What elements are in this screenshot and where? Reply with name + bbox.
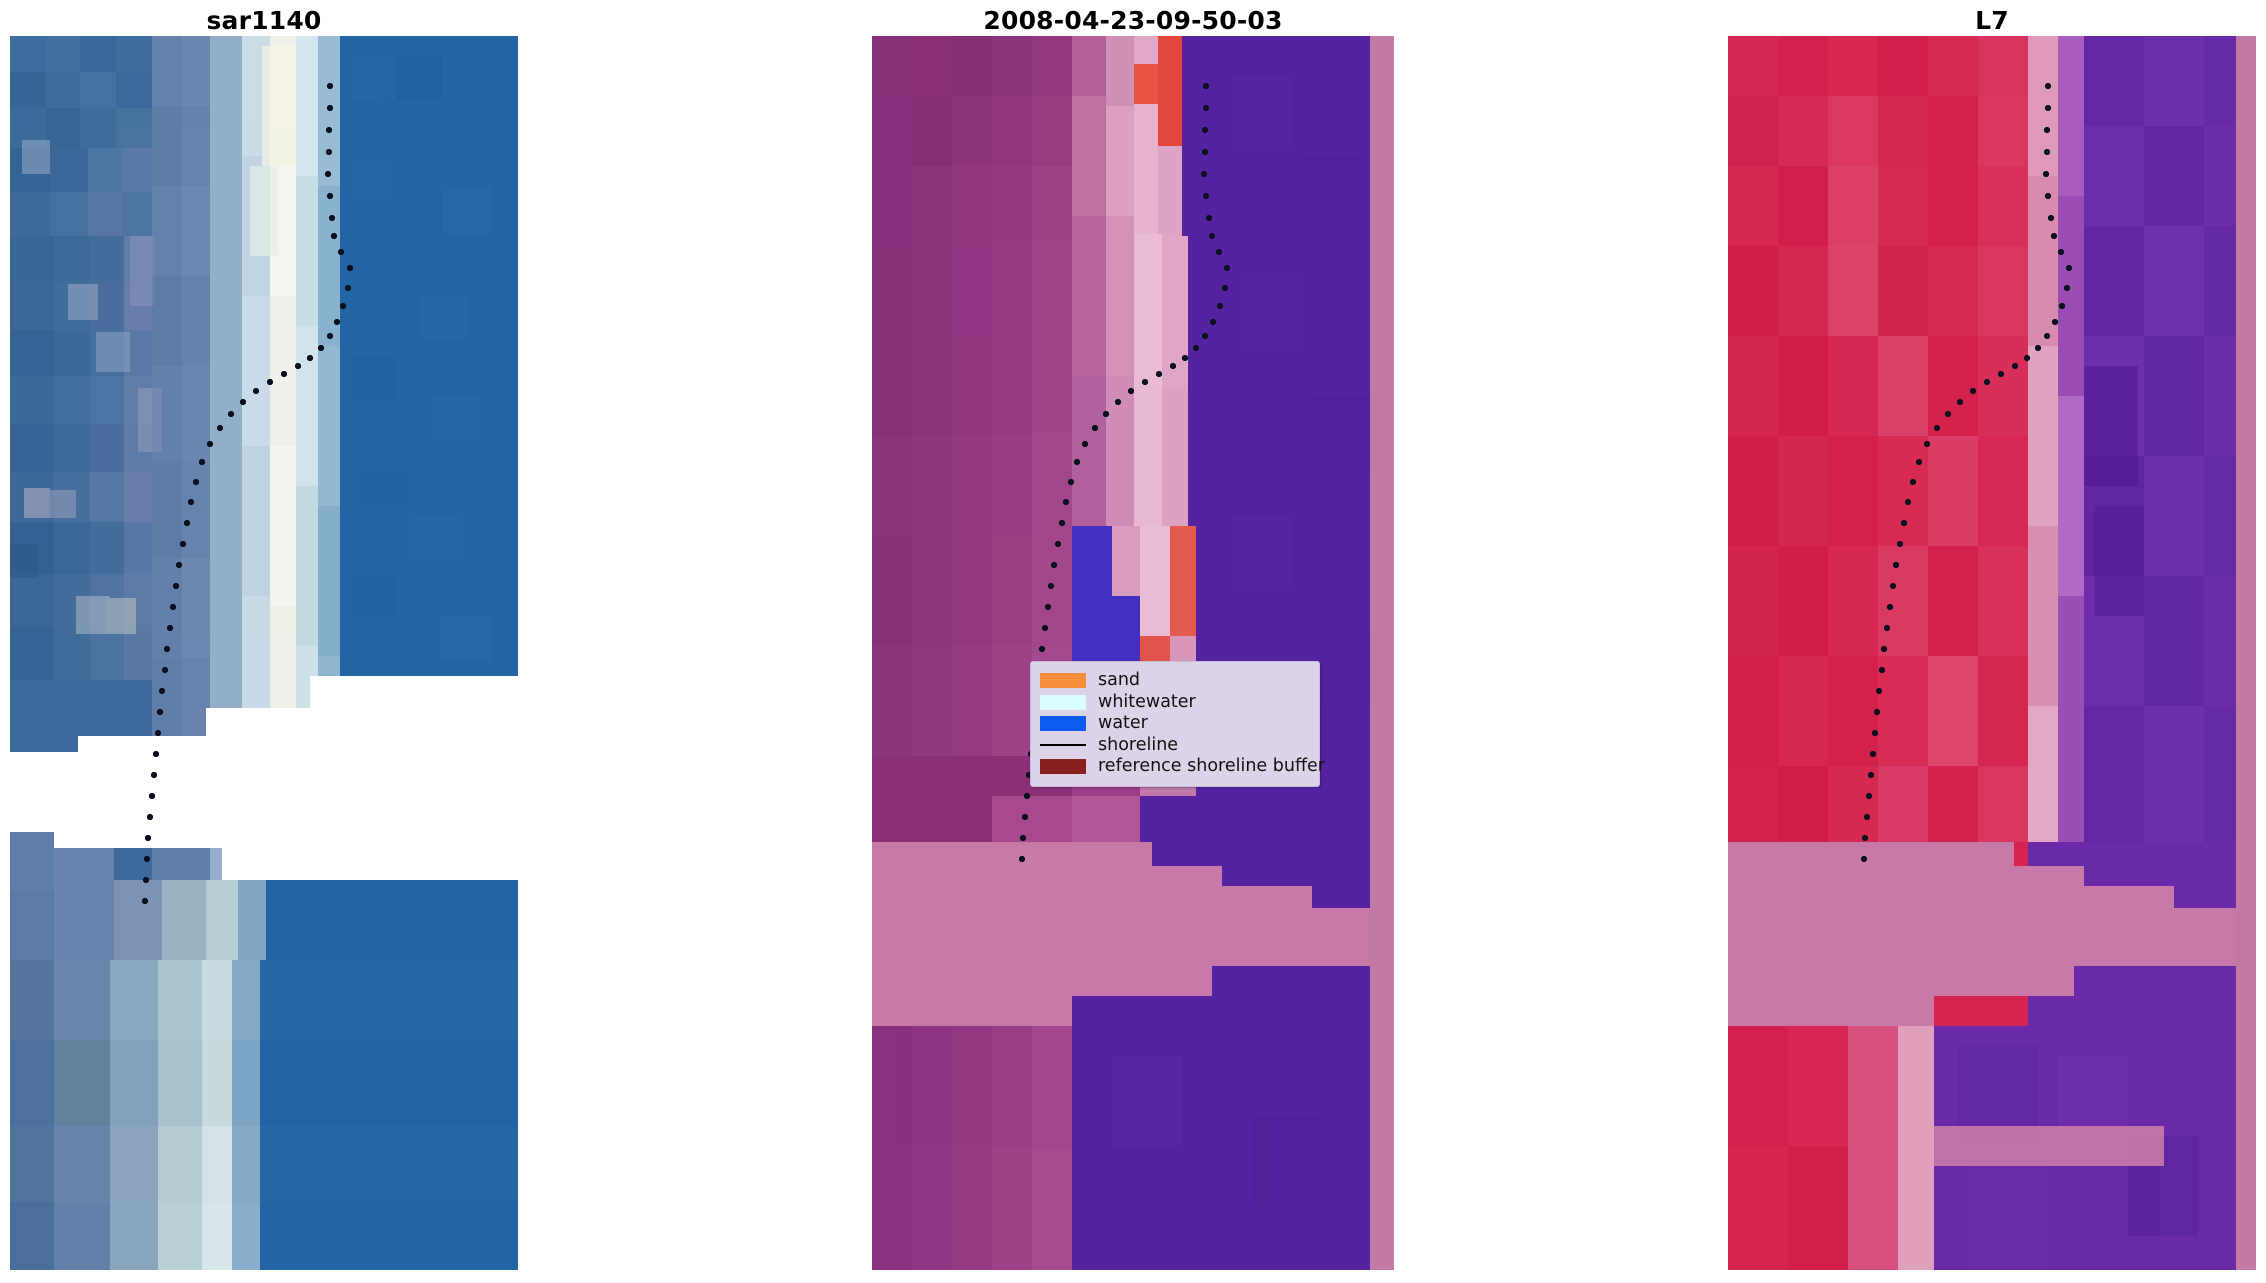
legend: sand whitewater water shoreline referenc… xyxy=(1030,661,1320,787)
panel-title-classification: 2008-04-23-09-50-03 xyxy=(872,6,1394,35)
classification-raster xyxy=(872,36,1394,1270)
legend-row: sand xyxy=(1040,670,1309,692)
whitewater-swatch xyxy=(1040,695,1086,710)
panel-sar-canvas xyxy=(10,36,518,1270)
legend-label: reference shoreline buffer xyxy=(1098,758,1325,776)
shoreline-line-glyph xyxy=(1040,744,1086,746)
panel-title-sar: sar1140 xyxy=(10,6,518,35)
legend-label: whitewater xyxy=(1098,694,1196,712)
sar-raster xyxy=(10,36,518,1270)
panel-l7-canvas xyxy=(1728,36,2256,1270)
legend-row: whitewater xyxy=(1040,692,1309,714)
buffer-swatch xyxy=(1040,759,1086,774)
legend-label: sand xyxy=(1098,672,1140,690)
legend-label: water xyxy=(1098,715,1148,733)
shoreline-line xyxy=(1040,738,1086,753)
water-swatch xyxy=(1040,716,1086,731)
panel-classification-canvas xyxy=(872,36,1394,1270)
legend-row: shoreline xyxy=(1040,735,1309,757)
right-edge-strip xyxy=(1370,36,1394,1270)
legend-row: water xyxy=(1040,713,1309,735)
l7-raster xyxy=(1728,36,2256,1270)
panel-l7[interactable] xyxy=(1728,36,2256,1270)
panel-title-l7: L7 xyxy=(1728,6,2256,35)
right-edge-strip xyxy=(2236,36,2256,1270)
legend-label: shoreline xyxy=(1098,737,1178,755)
legend-row: reference shoreline buffer xyxy=(1040,756,1309,778)
panel-classification[interactable] xyxy=(872,36,1394,1270)
sand-swatch xyxy=(1040,673,1086,688)
figure-root: sar1140 xyxy=(0,0,2266,1283)
panel-sar[interactable] xyxy=(10,36,518,1270)
